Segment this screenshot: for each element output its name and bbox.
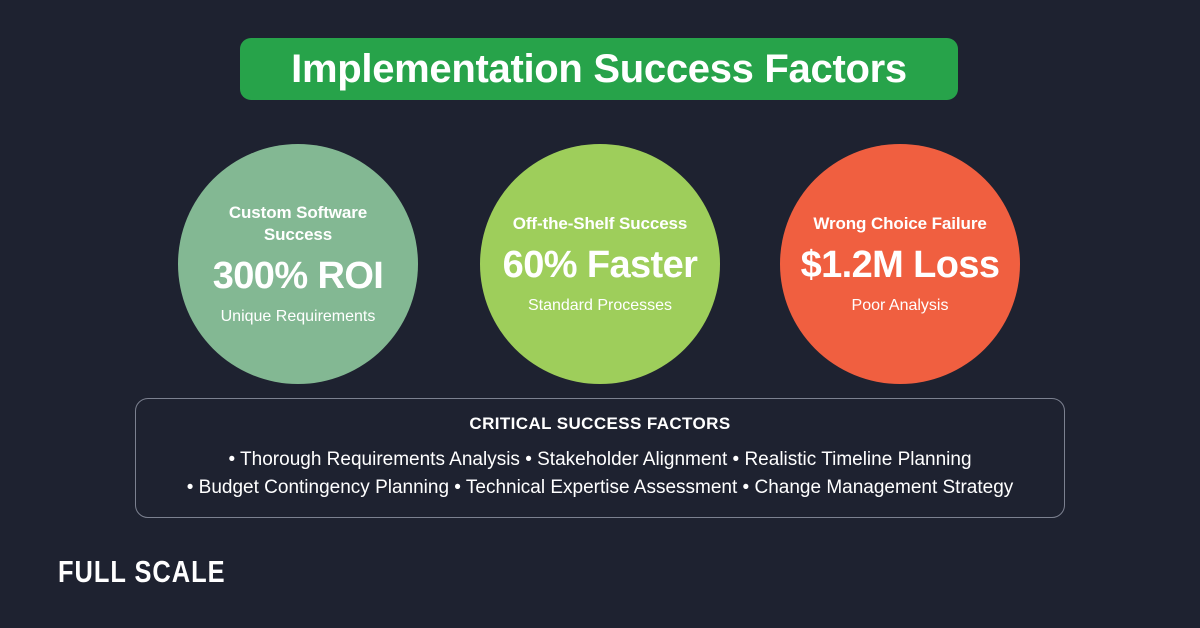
metric-circle-custom-software: Custom Software Success 300% ROI Unique … xyxy=(178,144,418,384)
metric-label: Wrong Choice Failure xyxy=(813,213,986,235)
metric-stat: $1.2M Loss xyxy=(801,245,1000,287)
metric-circle-off-the-shelf: Off-the-Shelf Success 60% Faster Standar… xyxy=(480,144,720,384)
factors-heading: CRITICAL SUCCESS FACTORS xyxy=(469,415,730,432)
infographic-canvas: Implementation Success Factors Custom So… xyxy=(0,0,1200,628)
factors-line: • Thorough Requirements Analysis • Stake… xyxy=(187,446,1014,474)
title-banner: Implementation Success Factors xyxy=(240,38,958,100)
metric-circle-wrong-choice: Wrong Choice Failure $1.2M Loss Poor Ana… xyxy=(780,144,1020,384)
metric-caption: Standard Processes xyxy=(528,296,672,315)
metric-label: Custom Software Success xyxy=(203,202,393,246)
full-scale-logo: FULL SCALE xyxy=(58,556,226,587)
metric-caption: Poor Analysis xyxy=(852,296,949,315)
metric-caption: Unique Requirements xyxy=(221,307,376,326)
page-title: Implementation Success Factors xyxy=(291,49,907,89)
factors-list: • Thorough Requirements Analysis • Stake… xyxy=(187,446,1014,501)
critical-success-factors-panel: CRITICAL SUCCESS FACTORS • Thorough Requ… xyxy=(135,398,1065,518)
metric-label: Off-the-Shelf Success xyxy=(513,213,688,235)
metric-stat: 300% ROI xyxy=(213,256,384,298)
factors-line: • Budget Contingency Planning • Technica… xyxy=(187,474,1014,502)
metric-circles-row: Custom Software Success 300% ROI Unique … xyxy=(0,144,1200,384)
metric-stat: 60% Faster xyxy=(503,245,698,287)
